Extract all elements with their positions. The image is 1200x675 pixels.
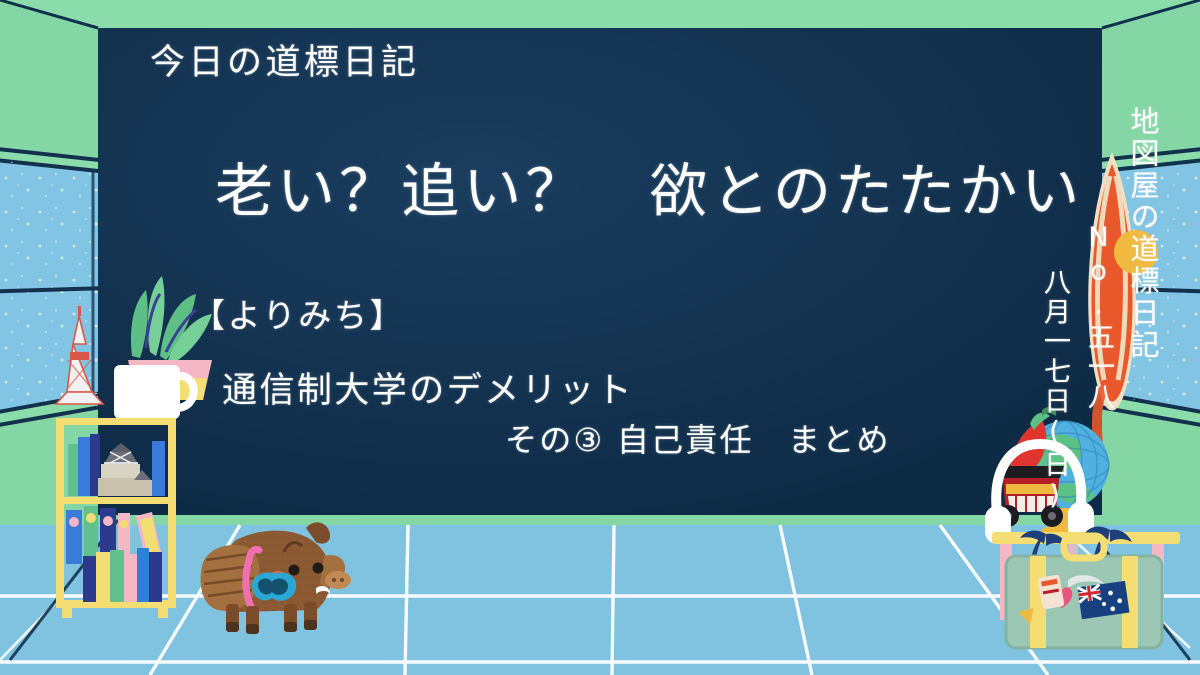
slide-canvas: 今日の道標日記 老い？追い？ 欲とのたたかい 【よりみち】 通信制大学のデメリッ… xyxy=(0,0,1200,675)
section-label: 【よりみち】 xyxy=(192,295,405,336)
subtitle-line-1: 通信制大学のデメリット xyxy=(222,370,634,414)
vertical-date: 八月一七日(日) xyxy=(1035,268,1074,514)
kicker-text: 今日の道標日記 xyxy=(150,42,420,86)
page-title: 老い？追い？ 欲とのたたかい xyxy=(215,155,1083,228)
vertical-series-title: 地図屋の道標日記 xyxy=(1122,106,1164,361)
chalk-text-layer: 今日の道標日記 老い？追い？ 欲とのたたかい 【よりみち】 通信制大学のデメリッ… xyxy=(0,0,1200,675)
subtitle-line-2: その③ 自己責任 まとめ xyxy=(505,420,891,460)
vertical-issue-number: No.五一八 xyxy=(1079,222,1118,412)
